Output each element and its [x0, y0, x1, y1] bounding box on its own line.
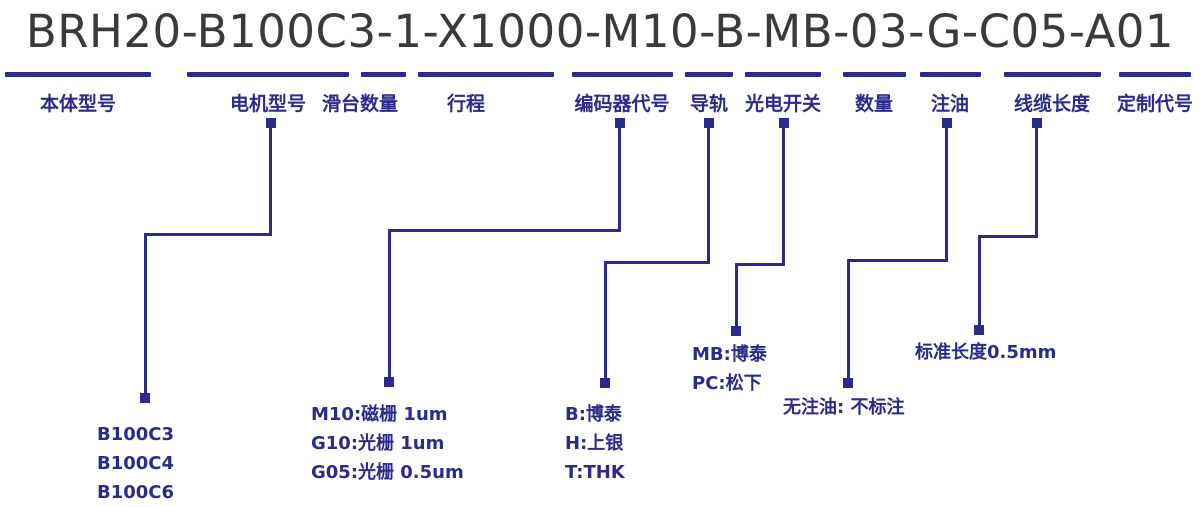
category-label-body-model: 本体型号 [28, 92, 128, 116]
connector-oiling-horizontal [847, 259, 948, 262]
segment-bar-4 [418, 72, 554, 77]
segment-bar-5 [572, 72, 673, 77]
category-label-motor-model: 电机型号 [218, 92, 318, 116]
segment-bar-11 [1119, 72, 1191, 77]
category-label-cable-length: 线缆长度 [996, 92, 1108, 116]
detail-option: B100C3 [97, 420, 174, 449]
detail-option: G10:光栅 1um [311, 429, 464, 458]
connector-photoswitch-horizontal [735, 263, 785, 266]
connector-dot-photoswitch-bottom [731, 326, 741, 336]
category-label-photo-switch: 光电开关 [740, 92, 826, 116]
detail-group-oiling: 无注油: 不标注 [783, 393, 904, 422]
detail-option: B100C4 [97, 449, 174, 478]
detail-option: H:上银 [565, 429, 625, 458]
segment-bar-8 [843, 72, 906, 77]
detail-option: B100C6 [97, 478, 174, 507]
connector-encoder-horizontal [388, 229, 621, 232]
connector-photoswitch-vertical-1 [782, 124, 785, 266]
segment-bar-1 [5, 72, 151, 77]
detail-option: 无注油: 不标注 [783, 393, 904, 422]
model-number-breakdown-diagram: BRH20-B100C3-1-X1000-M10-B-MB-03-G-C05-A… [0, 0, 1200, 507]
category-label-guide-rail: 导轨 [684, 92, 734, 116]
connector-dot-motor-bottom [140, 393, 150, 403]
connector-oiling-vertical-1 [945, 124, 948, 262]
connector-oiling-vertical-2 [847, 259, 850, 383]
connector-encoder-vertical-1 [618, 124, 621, 232]
segment-bar-6 [685, 72, 733, 77]
detail-option: T:THK [565, 458, 625, 487]
connector-motor-vertical-2 [144, 233, 147, 398]
connector-encoder-vertical-2 [388, 229, 391, 382]
detail-option: B:博泰 [565, 400, 625, 429]
category-label-slider-count: 滑台数量 [310, 92, 410, 116]
category-label-oiling: 注油 [918, 92, 982, 116]
connector-cable-vertical-1 [1035, 124, 1038, 238]
detail-option: MB:博泰 [692, 340, 767, 369]
segment-bar-7 [745, 72, 821, 77]
detail-group-cable-length: 标准长度0.5mm [915, 338, 1056, 367]
category-label-custom-code: 定制代号 [1110, 92, 1200, 116]
connector-dot-encoder-bottom [384, 377, 394, 387]
model-code-title: BRH20-B100C3-1-X1000-M10-B-MB-03-G-C05-A… [0, 4, 1200, 60]
connector-motor-vertical-1 [269, 124, 272, 236]
detail-group-photo-switch: MB:博泰 PC:松下 [692, 340, 767, 398]
segment-bar-3 [361, 72, 406, 77]
detail-option: M10:磁栅 1um [311, 400, 464, 429]
segment-bar-10 [1004, 72, 1101, 77]
category-label-encoder-code: 编码器代号 [560, 92, 684, 116]
connector-rail-horizontal [604, 261, 710, 264]
detail-option: PC:松下 [692, 369, 767, 398]
connector-cable-horizontal [978, 235, 1038, 238]
detail-group-encoder-code: M10:磁栅 1um G10:光栅 1um G05:光栅 0.5um [311, 400, 464, 487]
connector-rail-vertical-2 [604, 261, 607, 383]
detail-option: 标准长度0.5mm [915, 338, 1056, 367]
connector-dot-cable-bottom [974, 325, 984, 335]
connector-dot-rail-bottom [600, 378, 610, 388]
category-label-quantity: 数量 [842, 92, 906, 116]
segment-bar-9 [920, 72, 981, 77]
connector-cable-vertical-2 [978, 235, 981, 330]
connector-photoswitch-vertical-2 [735, 263, 738, 331]
detail-group-motor-model: B100C3 B100C4 B100C6 [97, 420, 174, 507]
connector-motor-horizontal [144, 233, 272, 236]
connector-rail-vertical-1 [707, 124, 710, 264]
category-label-stroke: 行程 [436, 92, 496, 116]
connector-dot-oiling-bottom [843, 378, 853, 388]
segment-bar-2 [187, 72, 349, 77]
detail-option: G05:光栅 0.5um [311, 458, 464, 487]
detail-group-guide-rail: B:博泰 H:上银 T:THK [565, 400, 625, 487]
